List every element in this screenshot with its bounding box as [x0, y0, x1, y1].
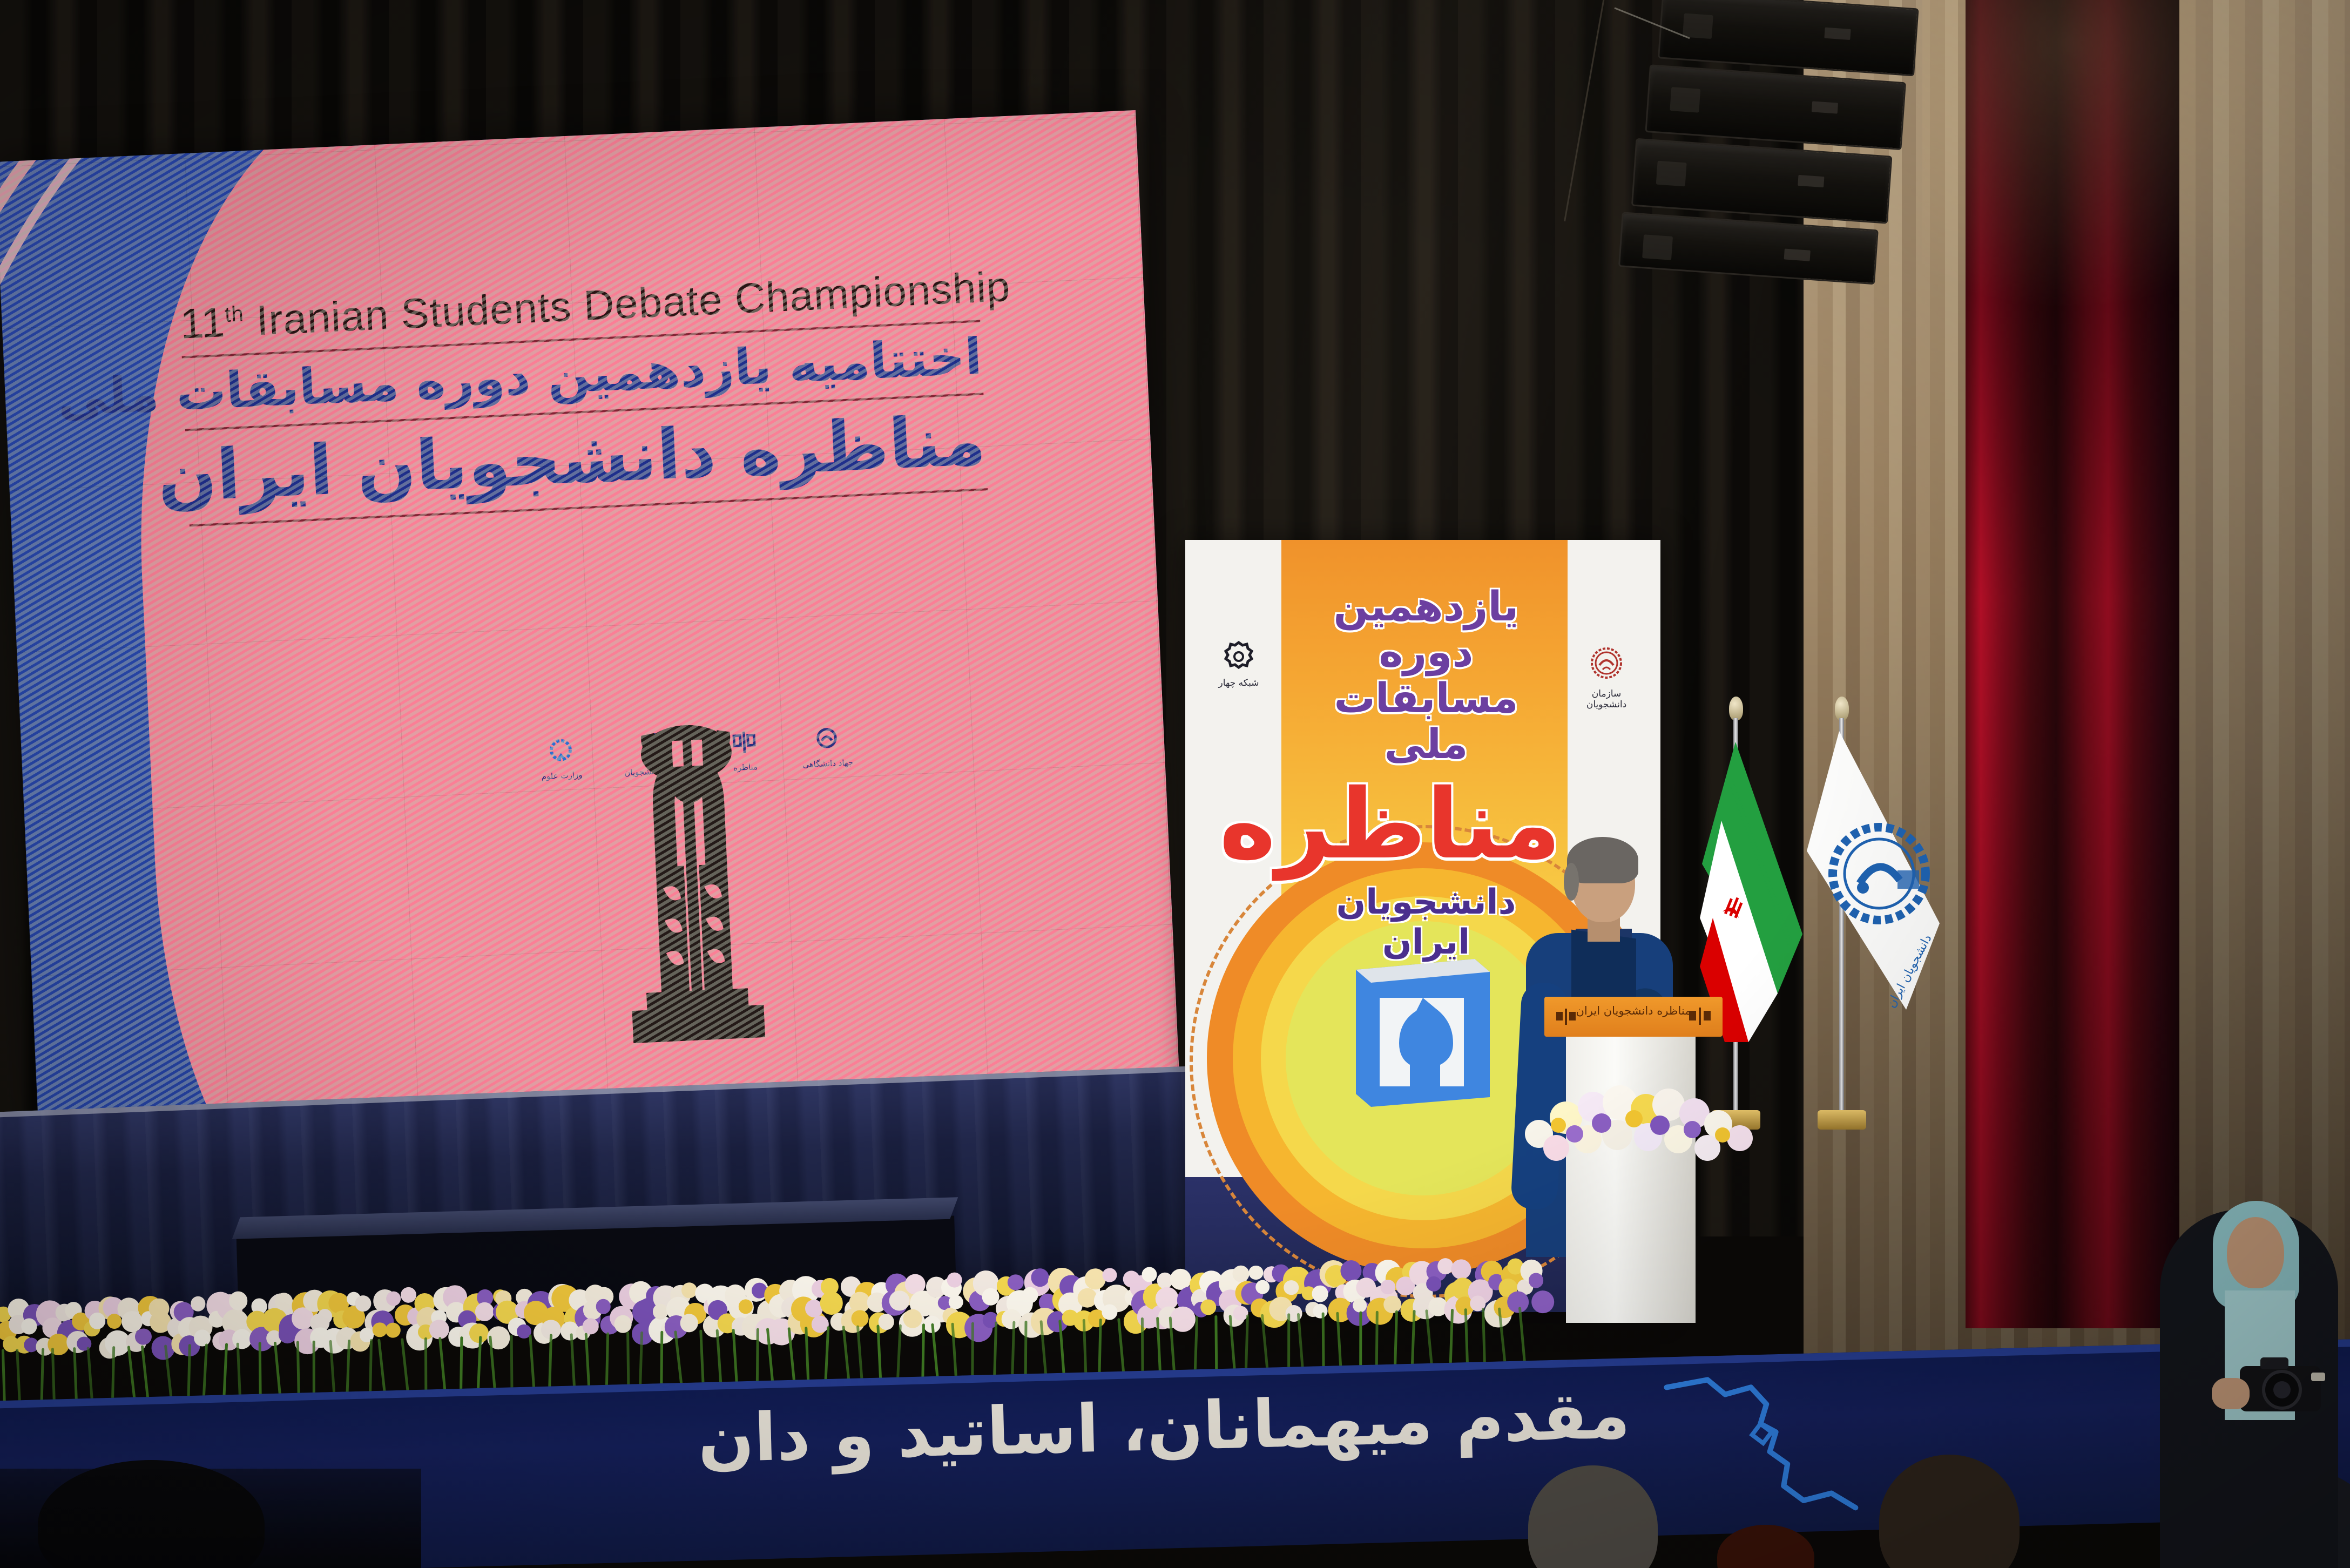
- line-array-speaker-icon: [1642, 0, 1943, 301]
- flower: [1312, 1285, 1329, 1302]
- flower: [1142, 1267, 1158, 1282]
- led-sponsor-logo: جهاد دانشگاهی: [801, 723, 853, 769]
- wood-panel-wall-right-shading: [2179, 0, 2350, 1382]
- red-velvet-curtain-shading: [1966, 0, 2182, 1328]
- flower: [355, 1295, 372, 1312]
- flower: [1340, 1260, 1362, 1282]
- jahad-daneshgahi-icon: [1588, 646, 1625, 684]
- shabake-chahar-icon: [1223, 640, 1255, 673]
- flower: [1103, 1268, 1117, 1282]
- debate-trophy-statue-icon: [592, 699, 792, 1053]
- flower: [134, 1328, 152, 1346]
- flower: [1200, 1299, 1217, 1315]
- flower: [21, 1318, 37, 1334]
- flower: [1022, 1287, 1038, 1303]
- flower: [1007, 1274, 1024, 1291]
- led-headline-block: 11th Iranian Students Debate Championshi…: [179, 260, 1053, 532]
- led-video-wall: 11th Iranian Students Debate Championshi…: [0, 110, 1180, 1138]
- flower: [1248, 1265, 1263, 1280]
- flower: [373, 1322, 387, 1337]
- speaker-hair-side: [1564, 863, 1579, 901]
- led-sponsor-logo: وزارت علوم: [539, 735, 582, 781]
- flag-finial-right: [1835, 697, 1849, 720]
- audience-head: [1879, 1455, 2020, 1568]
- podium-front-panel: مناظره دانشجویان ایران: [1544, 997, 1723, 1037]
- photographer-face: [2227, 1217, 2284, 1288]
- flower: [386, 1291, 401, 1306]
- flower: [1232, 1265, 1250, 1282]
- flower: [949, 1295, 963, 1309]
- standing-banner-right-logo: سازمان دانشجویان: [1574, 646, 1639, 710]
- flag-finial-left: [1729, 697, 1743, 720]
- flower: [386, 1322, 401, 1338]
- wreath-icon: [545, 735, 576, 767]
- standing-banner-left-logo: شبکه چهار: [1209, 640, 1268, 688]
- photographer: [2149, 1177, 2350, 1568]
- flower: [475, 1302, 494, 1321]
- flower: [614, 1315, 632, 1333]
- flower: [89, 1313, 106, 1329]
- flag-base-right: [1818, 1110, 1866, 1130]
- stage-photograph-scene: 11th Iranian Students Debate Championshi…: [0, 0, 2350, 1568]
- audience-head: [1717, 1525, 1814, 1568]
- standing-banner-right-logo-caption: سازمان دانشجویان: [1574, 688, 1639, 710]
- book-with-two-faces-icon: [1347, 950, 1498, 1107]
- led-sponsor-caption: وزارت علوم: [541, 770, 582, 781]
- photographer-hand: [2212, 1378, 2250, 1409]
- podium-front-text: مناظره دانشجویان ایران: [1544, 1004, 1723, 1017]
- flower: [582, 1318, 599, 1335]
- flower: [191, 1296, 206, 1312]
- standing-banner-left-logo-caption: شبکه چهار: [1209, 678, 1268, 688]
- flower: [820, 1292, 843, 1315]
- flower: [1426, 1276, 1441, 1292]
- flower: [1451, 1259, 1471, 1280]
- flower: [596, 1299, 611, 1314]
- standing-banner-line-1: یازدهمین دوره: [1291, 583, 1561, 675]
- foreground-shadow: [0, 1469, 421, 1568]
- flower: [228, 1291, 248, 1310]
- podium-flower-bouquet: [1507, 1053, 1766, 1177]
- flower: [317, 1309, 332, 1324]
- led-headline-persian-2: مناظره دانشجویان ایران: [185, 400, 987, 517]
- standing-banner-line-2: مسابقات ملی: [1291, 675, 1561, 767]
- jahad-daneshgahi-flag: دانشجویان ایران: [1798, 729, 1949, 1031]
- flower: [947, 1272, 962, 1288]
- audience-head: [1528, 1465, 1658, 1568]
- emblem-icon: [811, 724, 842, 755]
- flower: [889, 1290, 910, 1311]
